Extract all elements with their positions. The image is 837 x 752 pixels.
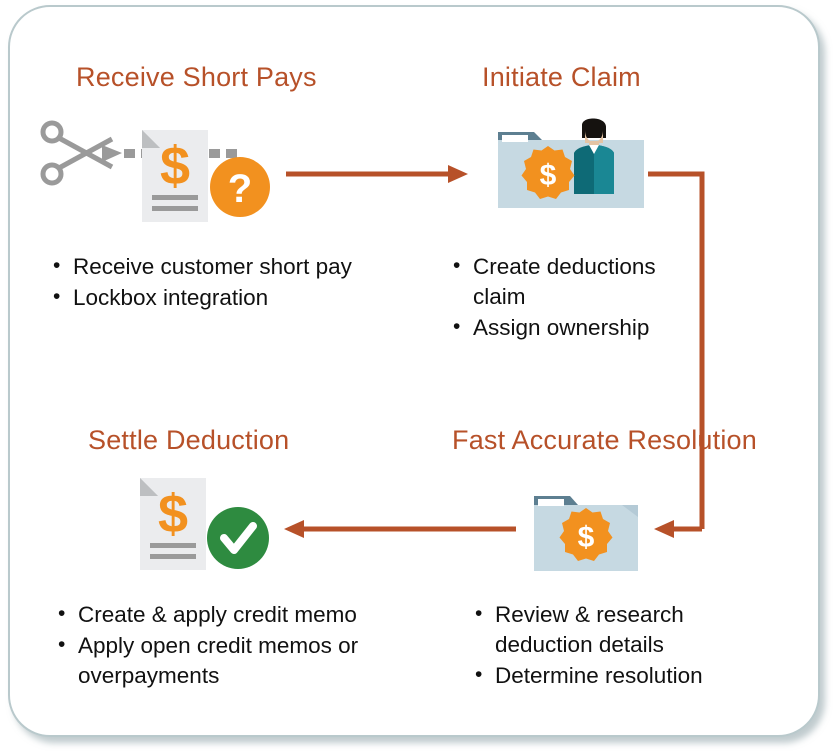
step-title-fast-accurate-resolution: Fast Accurate Resolution	[452, 425, 757, 456]
step-title-receive-short-pays: Receive Short Pays	[76, 62, 317, 93]
list-item: Receive customer short pay	[50, 252, 360, 282]
connector-arrow-step3-to-step4	[282, 515, 522, 545]
list-item: Apply open credit memos or overpayments	[55, 631, 405, 691]
bullet-list-fast-accurate-resolution: Review & research deduction details Dete…	[472, 600, 737, 692]
connector-arrow-step2-to-step3	[640, 164, 720, 544]
bullet-list-settle-deduction: Create & apply credit memo Apply open cr…	[55, 600, 405, 692]
list-item: Create & apply credit memo	[55, 600, 405, 630]
list-item: Assign ownership	[450, 313, 685, 343]
step-title-settle-deduction: Settle Deduction	[88, 425, 289, 456]
svg-text:$: $	[540, 159, 557, 192]
invoice-with-green-check-badge-icon: $	[132, 472, 282, 582]
svg-text:$: $	[160, 136, 190, 196]
connector-arrow-step1-to-step2	[280, 160, 480, 190]
scissors-cutting-invoice-with-question-badge-icon: $ ?	[36, 112, 276, 227]
list-item: Review & research deduction details	[472, 600, 737, 660]
folder-with-dollar-badge-icon: $	[530, 483, 645, 578]
step-title-initiate-claim: Initiate Claim	[482, 62, 641, 93]
deductions-process-diagram: Receive Short Pays $ ?	[0, 0, 837, 752]
folder-with-dollar-badge-and-person-icon: $	[494, 112, 644, 222]
list-item: Create deductions claim	[450, 252, 685, 312]
svg-text:$: $	[578, 521, 595, 554]
svg-text:$: $	[158, 484, 188, 544]
bullet-list-initiate-claim: Create deductions claim Assign ownership	[450, 252, 685, 344]
list-item: Lockbox integration	[50, 283, 360, 313]
list-item: Determine resolution	[472, 661, 737, 691]
bullet-list-receive-short-pays: Receive customer short pay Lockbox integ…	[50, 252, 360, 314]
svg-text:?: ?	[228, 167, 252, 211]
